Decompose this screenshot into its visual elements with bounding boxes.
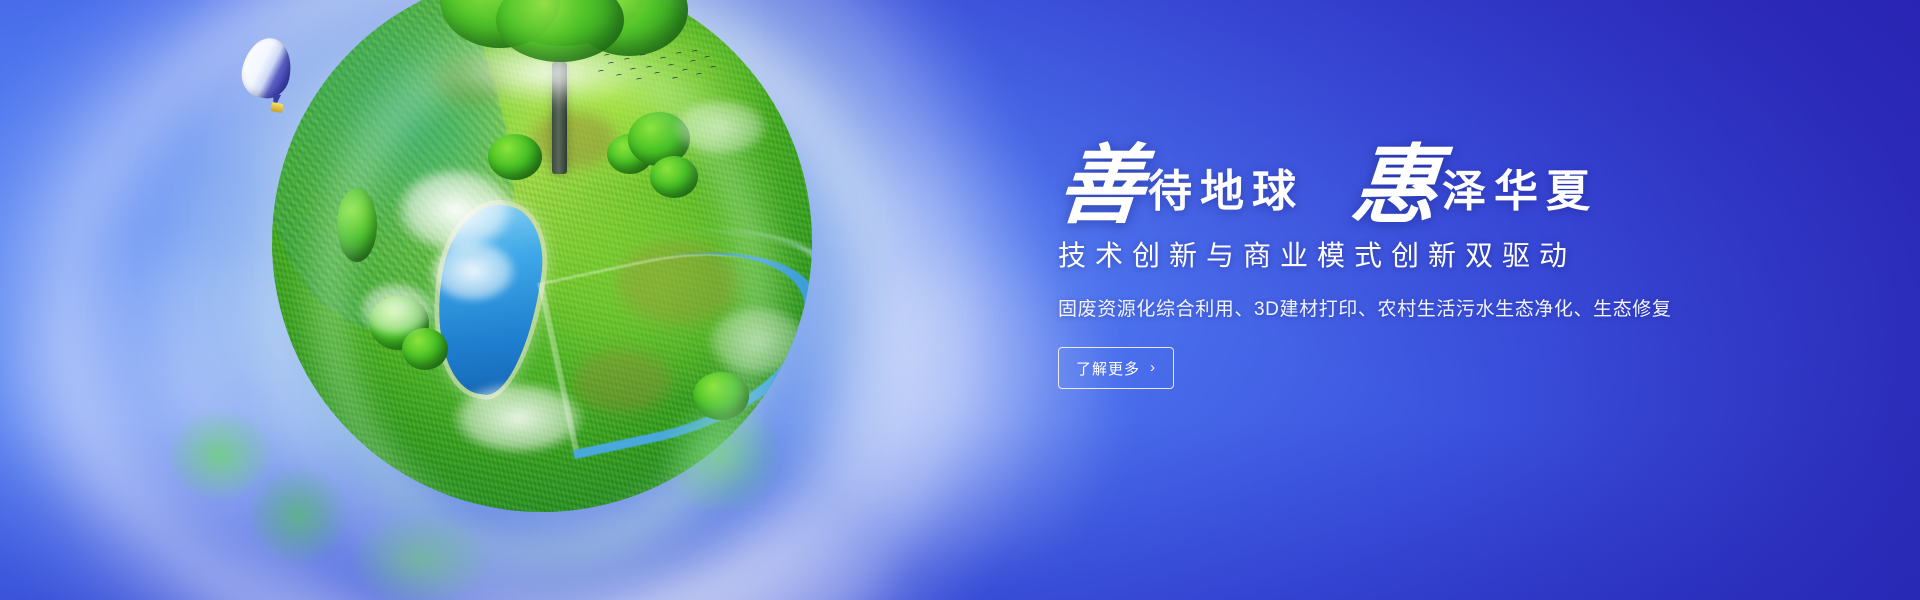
bird-icon bbox=[704, 56, 710, 60]
learn-more-label: 了解更多 bbox=[1076, 358, 1140, 379]
bird-icon bbox=[598, 70, 604, 74]
bird-icon bbox=[660, 57, 666, 61]
balloon-basket bbox=[270, 102, 284, 113]
hot-air-balloon-icon bbox=[243, 38, 295, 124]
globe-cloud bbox=[434, 372, 602, 464]
hero-description: 固废资源化综合利用、3D建材打印、农村生活污水生态净化、生态修复 bbox=[1058, 294, 1798, 321]
foreground-tree bbox=[430, 0, 690, 200]
bird-icon bbox=[646, 66, 652, 70]
bird-icon bbox=[696, 73, 702, 77]
bird-icon bbox=[608, 62, 614, 66]
bird-icon bbox=[668, 64, 674, 68]
headline-text-2: 泽华夏 bbox=[1436, 170, 1598, 224]
bird-icon bbox=[640, 54, 646, 58]
bird-icon bbox=[690, 60, 696, 64]
bird-icon bbox=[604, 54, 610, 58]
bird-icon bbox=[682, 69, 688, 73]
bird-icon bbox=[636, 78, 642, 82]
hero-copy-block: 善 待地球 惠 泽华夏 技术创新与商业模式创新双驱动 固废资源化综合利用、3D建… bbox=[1058, 128, 1798, 389]
globe-cloud bbox=[348, 274, 444, 344]
bird-icon bbox=[624, 58, 630, 62]
hero-subtitle: 技术创新与商业模式创新双驱动 bbox=[1058, 234, 1798, 274]
learn-more-button[interactable]: 了解更多 › bbox=[1058, 347, 1174, 389]
globe-cloud bbox=[693, 296, 812, 386]
balloon-envelope bbox=[237, 34, 296, 103]
headline-char-2: 惠 bbox=[1349, 148, 1440, 224]
bird-icon bbox=[692, 50, 698, 54]
chevron-right-icon: › bbox=[1150, 360, 1156, 375]
bird-icon bbox=[710, 66, 716, 70]
bird-icon bbox=[616, 74, 622, 78]
bird-icon bbox=[676, 52, 682, 56]
headline-char-1: 善 bbox=[1055, 148, 1146, 224]
bird-icon bbox=[672, 77, 678, 81]
hero-banner: 善 待地球 惠 泽华夏 技术创新与商业模式创新双驱动 固废资源化综合利用、3D建… bbox=[0, 0, 1920, 600]
globe-bush bbox=[337, 188, 377, 262]
limb-tree bbox=[640, 380, 800, 530]
bird-flock-icon bbox=[596, 48, 716, 88]
bird-icon bbox=[654, 72, 660, 76]
page-title: 善 待地球 惠 泽华夏 bbox=[1058, 128, 1798, 224]
bird-icon bbox=[630, 68, 636, 72]
headline-text-1: 待地球 bbox=[1142, 170, 1304, 224]
